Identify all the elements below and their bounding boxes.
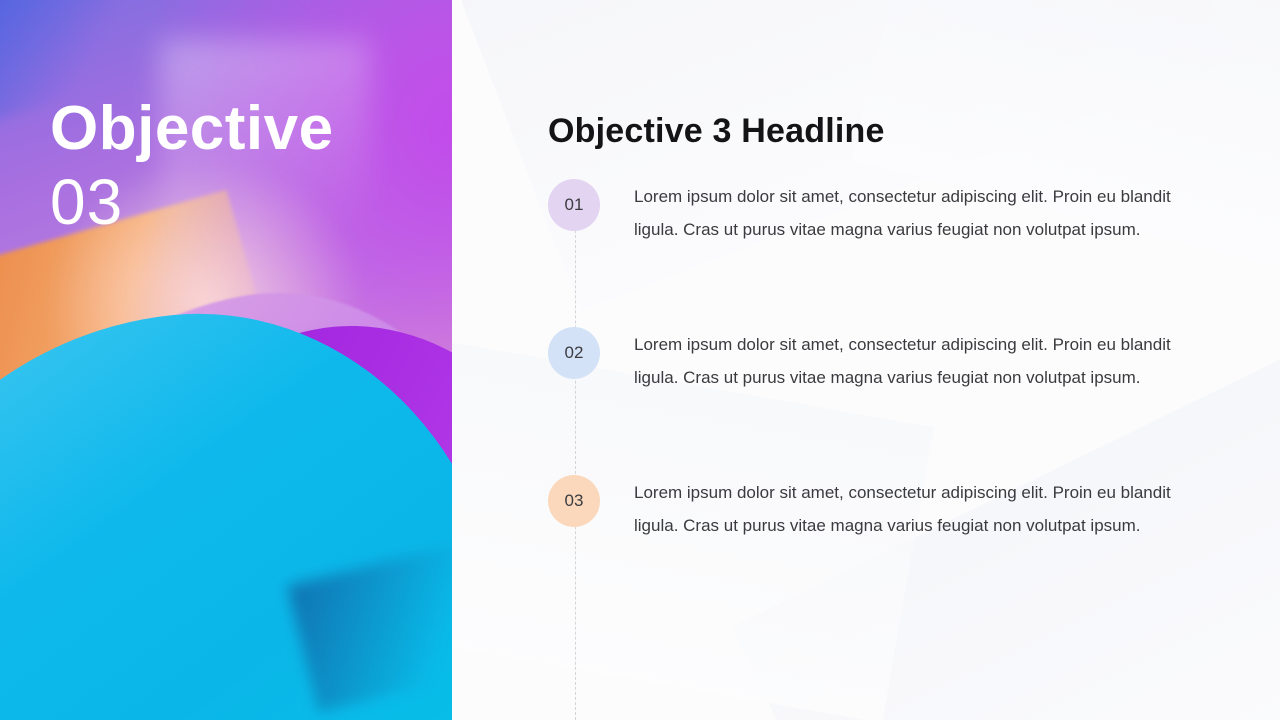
left-gradient-panel: Objective 03: [0, 0, 452, 720]
step-description: Lorem ipsum dolor sit amet, consectetur …: [634, 327, 1174, 394]
objective-label: Objective: [50, 96, 334, 161]
step-badge-label: 03: [565, 491, 584, 511]
step-badge-03[interactable]: 03: [548, 475, 600, 527]
step-badge-02[interactable]: 02: [548, 327, 600, 379]
page-title: Objective 3 Headline: [548, 112, 885, 151]
step-badge-01[interactable]: 01: [548, 179, 600, 231]
step-badge-label: 01: [565, 195, 584, 215]
timeline-list: 01 Lorem ipsum dolor sit amet, consectet…: [548, 179, 1208, 623]
list-item: 03 Lorem ipsum dolor sit amet, consectet…: [548, 475, 1208, 623]
list-item: 01 Lorem ipsum dolor sit amet, consectet…: [548, 179, 1208, 327]
step-description: Lorem ipsum dolor sit amet, consectetur …: [634, 475, 1174, 542]
slide: Objective 03 Objective 3 Headline 01 Lor…: [0, 0, 1280, 720]
objective-number: 03: [50, 167, 334, 237]
content-panel: Objective 3 Headline 01 Lorem ipsum dolo…: [452, 0, 1280, 720]
step-badge-label: 02: [565, 343, 584, 363]
list-item: 02 Lorem ipsum dolor sit amet, consectet…: [548, 327, 1208, 475]
step-description: Lorem ipsum dolor sit amet, consectetur …: [634, 179, 1174, 246]
slide-label-block: Objective 03: [50, 96, 334, 237]
